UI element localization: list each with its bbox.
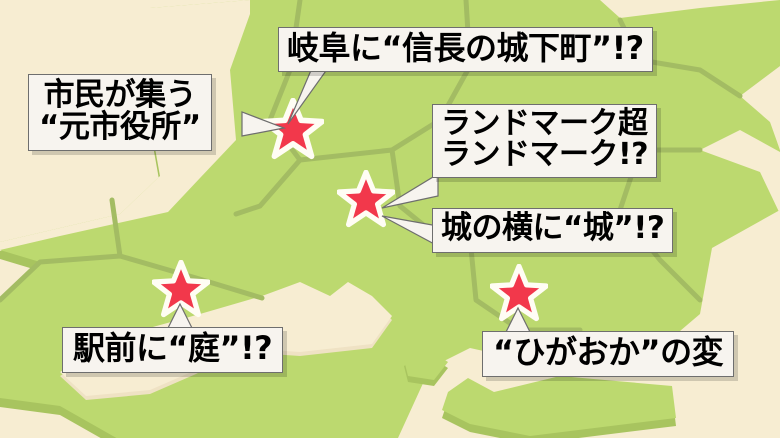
callout-ekimae: 駅前に“庭”!? — [62, 327, 283, 373]
callout-shimin: 市民が集う “元市役所” — [28, 74, 212, 151]
callout-higaoka: “ひがおか”の変 — [482, 331, 734, 377]
callout-gifu-line-1: 岐阜に“信長の城下町”!? — [287, 32, 644, 65]
callout-shiro-line-1: 城の横に“城”!? — [441, 213, 664, 245]
callout-shiro: 城の横に“城”!? — [432, 208, 673, 253]
tail-shimin — [240, 106, 300, 154]
callout-shimin-line-2: “元市役所” — [39, 112, 201, 144]
callout-gifu: 岐阜に“信長の城下町”!? — [278, 27, 653, 72]
callout-landmark-line-1: ランドマーク超 — [441, 109, 648, 140]
callout-ekimae-line-1: 駅前に“庭”!? — [73, 332, 272, 365]
callout-higaoka-line-1: “ひがおか”の変 — [493, 336, 723, 369]
southeast-enclave — [442, 376, 676, 438]
map-graphic: 岐阜に“信長の城下町”!? 市民が集う “元市役所” ランドマーク超 ランドマー… — [0, 0, 780, 438]
callout-landmark-line-2: ランドマーク!? — [441, 140, 648, 171]
callout-landmark: ランドマーク超 ランドマーク!? — [432, 104, 657, 178]
callout-shimin-line-1: 市民が集う — [39, 80, 201, 112]
